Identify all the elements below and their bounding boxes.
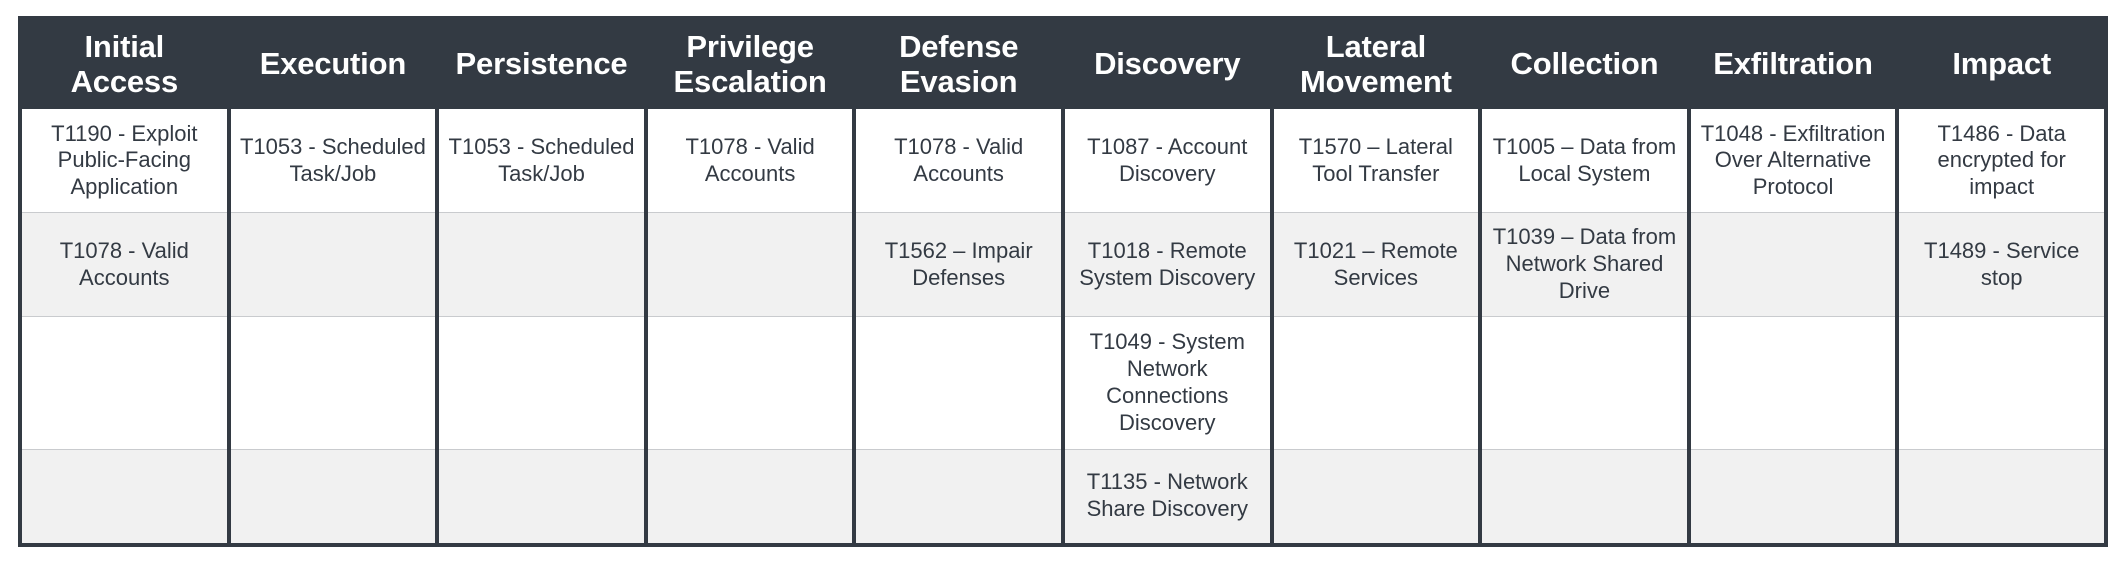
technique-cell[interactable]: T1018 - Remote System Discovery xyxy=(1063,213,1272,317)
technique-cell[interactable]: T1489 - Service stop xyxy=(1897,213,2106,317)
technique-cell-empty[interactable] xyxy=(1689,317,1898,449)
column-header-execution[interactable]: Execution xyxy=(229,18,438,109)
technique-cell[interactable]: T1039 – Data from Network Shared Drive xyxy=(1480,213,1689,317)
table-row: T1049 - System Network Connections Disco… xyxy=(20,317,2106,449)
column-header-collection[interactable]: Collection xyxy=(1480,18,1689,109)
technique-cell[interactable]: T1053 - Scheduled Task/Job xyxy=(229,109,438,212)
technique-cell-empty[interactable] xyxy=(646,213,855,317)
technique-cell-empty[interactable] xyxy=(1480,317,1689,449)
technique-cell[interactable]: T1078 - Valid Accounts xyxy=(646,109,855,212)
technique-cell[interactable]: T1048 - Exfiltration Over Alternative Pr… xyxy=(1689,109,1898,212)
column-header-defense-evasion[interactable]: Defense Evasion xyxy=(854,18,1063,109)
technique-cell-empty[interactable] xyxy=(854,317,1063,449)
technique-cell[interactable]: T1135 - Network Share Discovery xyxy=(1063,449,1272,545)
attack-matrix-container: Initial Access Execution Persistence Pri… xyxy=(18,16,2108,547)
table-row: T1078 - Valid Accounts T1562 – Impair De… xyxy=(20,213,2106,317)
column-header-exfiltration[interactable]: Exfiltration xyxy=(1689,18,1898,109)
matrix-body: T1190 - Exploit Public-Facing Applicatio… xyxy=(20,109,2106,545)
technique-cell-empty[interactable] xyxy=(1480,449,1689,545)
column-header-initial-access[interactable]: Initial Access xyxy=(20,18,229,109)
technique-cell-empty[interactable] xyxy=(646,449,855,545)
technique-cell-empty[interactable] xyxy=(20,449,229,545)
matrix-header-row: Initial Access Execution Persistence Pri… xyxy=(20,18,2106,109)
technique-cell[interactable]: T1078 - Valid Accounts xyxy=(854,109,1063,212)
technique-cell[interactable]: T1562 – Impair Defenses xyxy=(854,213,1063,317)
table-row: T1190 - Exploit Public-Facing Applicatio… xyxy=(20,109,2106,212)
technique-cell-empty[interactable] xyxy=(229,213,438,317)
column-header-discovery[interactable]: Discovery xyxy=(1063,18,1272,109)
technique-cell-empty[interactable] xyxy=(437,213,646,317)
technique-cell[interactable]: T1087 - Account Discovery xyxy=(1063,109,1272,212)
column-header-impact[interactable]: Impact xyxy=(1897,18,2106,109)
attack-matrix-table: Initial Access Execution Persistence Pri… xyxy=(18,16,2108,547)
technique-cell[interactable]: T1190 - Exploit Public-Facing Applicatio… xyxy=(20,109,229,212)
technique-cell-empty[interactable] xyxy=(1897,317,2106,449)
technique-cell-empty[interactable] xyxy=(1272,317,1481,449)
technique-cell[interactable]: T1005 – Data from Local System xyxy=(1480,109,1689,212)
column-header-privilege-escalation[interactable]: Privilege Escalation xyxy=(646,18,855,109)
technique-cell-empty[interactable] xyxy=(229,449,438,545)
table-row: T1135 - Network Share Discovery xyxy=(20,449,2106,545)
technique-cell-empty[interactable] xyxy=(646,317,855,449)
technique-cell-empty[interactable] xyxy=(854,449,1063,545)
technique-cell[interactable]: T1486 - Data encrypted for impact xyxy=(1897,109,2106,212)
technique-cell-empty[interactable] xyxy=(1689,449,1898,545)
technique-cell-empty[interactable] xyxy=(1272,449,1481,545)
technique-cell-empty[interactable] xyxy=(229,317,438,449)
column-header-lateral-movement[interactable]: Lateral Movement xyxy=(1272,18,1481,109)
technique-cell-empty[interactable] xyxy=(437,317,646,449)
matrix-header-row-group: Initial Access Execution Persistence Pri… xyxy=(20,18,2106,109)
technique-cell-empty[interactable] xyxy=(1897,449,2106,545)
technique-cell-empty[interactable] xyxy=(437,449,646,545)
technique-cell[interactable]: T1053 - Scheduled Task/Job xyxy=(437,109,646,212)
technique-cell[interactable]: T1049 - System Network Connections Disco… xyxy=(1063,317,1272,449)
column-header-persistence[interactable]: Persistence xyxy=(437,18,646,109)
technique-cell[interactable]: T1078 - Valid Accounts xyxy=(20,213,229,317)
technique-cell[interactable]: T1570 – Lateral Tool Transfer xyxy=(1272,109,1481,212)
technique-cell-empty[interactable] xyxy=(20,317,229,449)
technique-cell[interactable]: T1021 – Remote Services xyxy=(1272,213,1481,317)
technique-cell-empty[interactable] xyxy=(1689,213,1898,317)
